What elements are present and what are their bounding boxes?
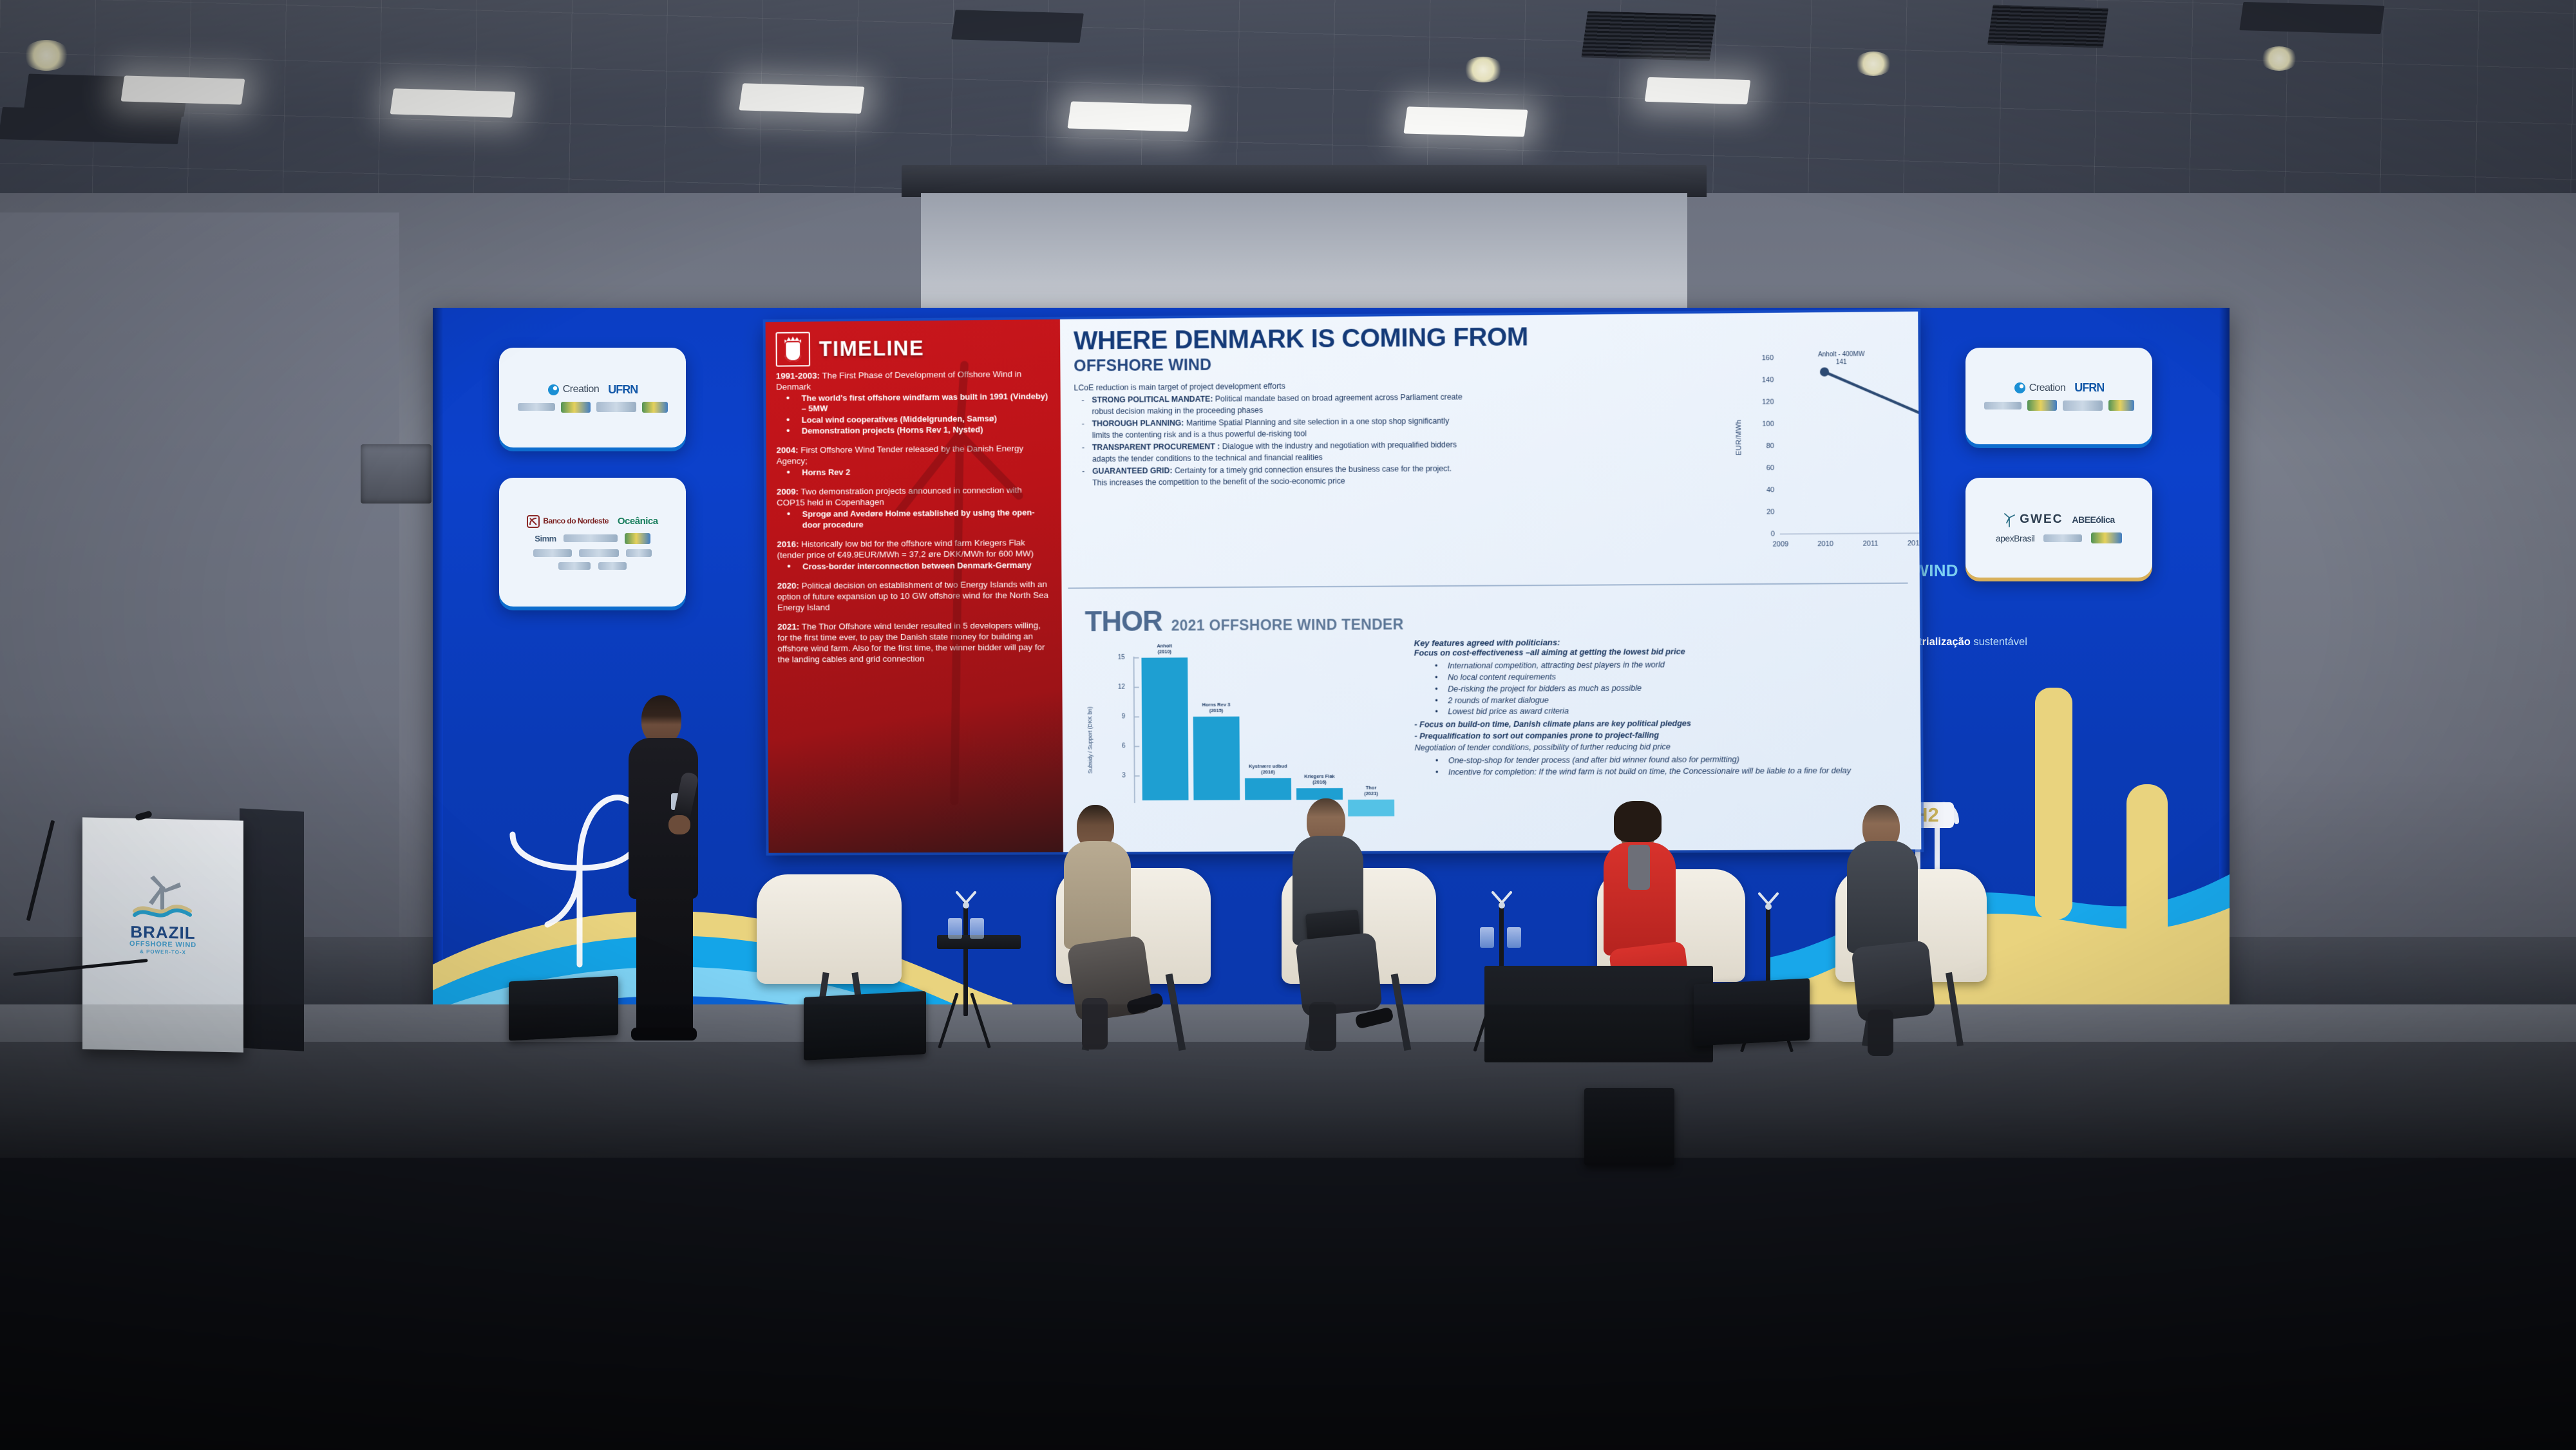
sponsor-logo-governo-federal: [1984, 402, 2022, 410]
sponsor-logo-creation: Creation: [563, 384, 599, 395]
line-chart-plot: [1779, 355, 1921, 546]
bar-anholt: [1141, 657, 1188, 800]
water-glass: [970, 918, 984, 939]
thor-features-sub: Focus on cost-effectiveness –all aiming …: [1414, 645, 1908, 659]
year: 1991-2003:: [776, 371, 820, 381]
ceiling-dark-tile: [951, 10, 1084, 43]
ceiling-spotlight: [2260, 46, 2298, 71]
sponsor-logo-creation: Creation: [2029, 382, 2065, 394]
ceiling-light-panel: [390, 88, 516, 117]
sponsor-logo-oceanica: Oceânica: [618, 516, 658, 527]
sponsor-logo-idema: [626, 549, 652, 557]
line-chart-y-tick: 160: [1750, 354, 1774, 362]
bar-chart-y-tick: 3: [1109, 772, 1126, 779]
podium-logo: BRAZIL OFFSHORE WIND & POWER-TO-X: [129, 874, 196, 956]
bar-sublabel: (2016): [1261, 769, 1275, 775]
bullet-label: STRONG POLITICAL MANDATE:: [1092, 395, 1213, 405]
line-chart-y-tick: 100: [1750, 420, 1774, 428]
annotation-value: 141: [1795, 359, 1887, 367]
timeline-bullet: Sprogø and Avedøre Holme established by …: [777, 507, 1052, 530]
gwec-turbine-icon: [2003, 512, 2016, 527]
sponsor-plaque-right-bottom: GWEC ABEEólica apexBrasil: [1965, 478, 2152, 578]
timeline-bullet: The world's first offshore windfarm was …: [776, 391, 1052, 415]
bar-chart-y-tick: 12: [1108, 684, 1125, 691]
mic-stand-mic-icon: [1753, 891, 1784, 913]
bar-kystnaere-udbud: [1245, 778, 1291, 800]
bar-label-kriegers-flak: Kriegers Flak (2016): [1289, 774, 1350, 786]
bar-sublabel: (2016): [1312, 779, 1327, 785]
line-chart-y-tick: 0: [1751, 530, 1774, 538]
timeline-panel: TIMELINE 1991-2003: The First Phase of D…: [766, 319, 1063, 853]
sponsor-logo-banco-do-nordeste: Banco do Nordeste: [543, 517, 609, 525]
sponsor-logo-neoenergia: [598, 562, 627, 570]
thor-subtitle: 2021 OFFSHORE WIND TENDER: [1171, 616, 1404, 634]
backdrop-right-edge: [2219, 308, 2230, 1048]
line-chart-y-axis-label: EUR/MWh: [1735, 420, 1743, 456]
plaque-secondary-logos: [1972, 400, 2146, 411]
sponsor-logo-rio-grande-do-norte: [596, 402, 636, 412]
sponsor-logo-rio-grande-do-norte: [2063, 400, 2103, 411]
banco-do-nordeste-logo-icon: [527, 515, 540, 528]
timeline-entry-bullets: Cross-border interconnection between Den…: [777, 560, 1053, 572]
panelist-inner-top: [1628, 845, 1650, 890]
ceiling-dark-tile: [2239, 2, 2384, 34]
bar-chart-axis: [1128, 652, 1139, 806]
sponsor-logo-rn-mais: [642, 402, 668, 413]
plaque-primary-logos: GWEC ABEEólica: [1972, 512, 2146, 527]
sponsor-plaque-left-bottom: Banco do Nordeste Oceânica Simm: [499, 478, 686, 607]
line-chart-y-tick: 80: [1751, 442, 1774, 450]
podium-logo-line1: BRAZIL: [129, 923, 196, 941]
timeline-bullet: Horns Rev 2: [777, 466, 1052, 478]
creation-logo-icon: [2014, 382, 2026, 394]
sponsor-logo-governo-federal: [2043, 534, 2082, 542]
bar-chart-y-tick: 9: [1108, 713, 1125, 720]
ceiling-spotlight: [1463, 57, 1503, 82]
bar-chart-y-tick: 15: [1108, 654, 1125, 661]
armchair[interactable]: [757, 874, 902, 984]
line-chart-x-tick: 2012: [1900, 540, 1921, 547]
bar-sublabel: (2021): [1364, 790, 1378, 796]
sponsor-logo-ufrn: UFRN: [608, 383, 638, 397]
sponsor-logo-brasil: [561, 402, 591, 413]
sponsor-logo-partner-a: [533, 549, 572, 557]
slide-bullet: TRANSPARENT PROCUREMENT : Dialogue with …: [1082, 440, 1468, 466]
timeline-title: TIMELINE: [819, 336, 925, 361]
water-glass: [1507, 927, 1521, 948]
line-chart-y-tick: 60: [1751, 464, 1774, 472]
bullet-label: THOROUGH PLANNING:: [1092, 419, 1184, 428]
bullet-label: TRANSPARENT PROCUREMENT :: [1092, 442, 1220, 452]
year: 2016:: [777, 539, 799, 549]
timeline-entry-bullets: Horns Rev 2: [777, 466, 1052, 478]
bar-label-kystnaere: Kystnære udbud (2016): [1237, 764, 1299, 775]
thor-negotiation-line: Negotiation of tender conditions, possib…: [1415, 740, 1908, 754]
bar-label-thor: Thor (2021): [1340, 786, 1402, 797]
line-chart-y-tick: 120: [1750, 398, 1774, 406]
plaque-secondary-logos: apexBrasil: [1972, 532, 2146, 543]
sponsor-plaque-left-top: Creation UFRN: [499, 348, 686, 447]
plaque-primary-logos: Banco do Nordeste Oceânica: [506, 515, 679, 528]
panelist-jacket: [1847, 841, 1918, 953]
danish-royal-crest-icon: [775, 332, 810, 366]
ceiling-spotlight: [23, 40, 70, 71]
slide-section-divider: [1068, 583, 1908, 589]
bar-horns-rev-3: [1193, 717, 1240, 800]
line-chart-x-tick: 2009: [1766, 540, 1796, 548]
sponsor-logo-brasil: [2027, 400, 2057, 411]
slide-title: WHERE DENMARK IS COMING FROM: [1074, 321, 1918, 354]
line-chart-y-tick: 40: [1751, 486, 1774, 494]
sponsor-logo-partner-b: [579, 549, 619, 557]
line-chart-point-annotation: Anholt - 400MW 141: [1795, 351, 1887, 368]
ceiling-light-panel: [1645, 77, 1751, 104]
sponsor-logo-apexbrasil: apexBrasil: [1996, 533, 2034, 543]
slide-bullet-list: STRONG POLITICAL MANDATE: Political mand…: [1081, 391, 1468, 489]
timeline-bullet: Cross-border interconnection between Den…: [777, 560, 1053, 572]
timeline-entry-bullets: Sprogø and Avedøre Holme established by …: [777, 507, 1052, 530]
thor-section-header: THOR 2021 OFFSHORE WIND TENDER: [1084, 604, 1403, 638]
tagline-part3: sustentável: [1971, 636, 2027, 648]
sponsor-logo-rn-mais: [2108, 400, 2134, 411]
wall-speaker: [361, 444, 431, 504]
line-chart-x-tick: 2011: [1855, 540, 1886, 547]
slide-bullet: THOROUGH PLANNING: Maritime Spatial Plan…: [1082, 416, 1468, 442]
line-chart-x-tick: 2010: [1810, 540, 1841, 548]
sponsor-logo-energisa: [625, 533, 650, 544]
audience-section: [0, 979, 2576, 1450]
plaque-secondary-logos-row3: [506, 562, 679, 570]
lcoe-line-chart: EUR/MWh 160 140 120 100 80 60 40 20 0: [1736, 355, 1922, 572]
plaque-secondary-logos-row1: Simm: [506, 533, 679, 544]
creation-logo-icon: [547, 384, 560, 396]
timeline-bullet: Demonstration projects (Horns Rev 1, Nys…: [776, 424, 1052, 437]
year: 2004:: [777, 446, 799, 455]
bullet-label: GUARANTEED GRID:: [1092, 466, 1172, 476]
plaque-primary-logos: Creation UFRN: [506, 383, 679, 397]
ceiling-light-panel: [1403, 106, 1528, 137]
bar-sublabel: (2010): [1157, 648, 1171, 654]
water-glass: [948, 918, 962, 939]
water-glass: [1480, 927, 1494, 948]
thor-bullet: Lowest bid price as award criteria: [1434, 704, 1908, 718]
sponsor-logo-abeeolica: ABEEólica: [2072, 514, 2114, 525]
panelist-jacket: [1064, 841, 1131, 949]
slide-bullet: STRONG POLITICAL MANDATE: Political mand…: [1081, 391, 1467, 417]
bar-chart-y-tick: 6: [1109, 742, 1126, 749]
sponsor-logo-gwec: GWEC: [2020, 513, 2063, 527]
year: 2020:: [777, 581, 799, 590]
conference-stage-photo: H2 BRAZIL OFFSHORE WI: [0, 0, 2576, 1450]
backdrop-left-edge: [433, 308, 443, 1048]
projection-screen-housing: [902, 165, 1707, 197]
thor-title: THOR: [1084, 606, 1162, 639]
sponsor-logo-ufrn: UFRN: [2074, 381, 2104, 395]
plaque-primary-logos: Creation UFRN: [1972, 381, 2146, 395]
shield-shape: [784, 341, 801, 361]
podium-turbine-wave-icon: [131, 874, 195, 921]
ceiling-light-panel: [1067, 101, 1191, 131]
ceiling-light-panel: [739, 83, 864, 113]
timeline-bullet: Local wind cooperatives (Middelgrunden, …: [776, 413, 1052, 426]
ceiling-air-vent: [1581, 11, 1716, 61]
sponsor-logo-governo-federal: [518, 403, 555, 411]
ceiling-dark-tile: [0, 107, 182, 144]
plaque-secondary-logos: [506, 402, 679, 413]
ceiling-spotlight: [1855, 52, 1892, 76]
sponsor-logo-brasil: [2091, 532, 2122, 543]
ceiling-air-vent: [1987, 5, 2108, 48]
thor-bullet-list-2: One-stop-shop for tender process (and af…: [1434, 753, 1908, 778]
slide-bullet: GUARANTEED GRID: Certainty for a timely …: [1082, 464, 1468, 489]
line-chart-y-tick: 140: [1750, 376, 1774, 384]
thor-bullet: Incentive for completion: If the wind fa…: [1434, 765, 1908, 778]
plaque-secondary-logos-row2: [506, 549, 679, 557]
thor-bullet-list: International competition, attracting be…: [1434, 658, 1908, 718]
line-chart-y-tick: 20: [1751, 508, 1774, 516]
presenter-hand: [668, 815, 690, 834]
sponsor-logo-petrobras: [558, 562, 591, 570]
bar-sublabel: (2015): [1209, 707, 1224, 713]
bar-chart-y-axis-label: Subsidy / Support (DKK bn): [1086, 677, 1094, 774]
slide-main-column: WHERE DENMARK IS COMING FROM OFFSHORE WI…: [1056, 312, 1921, 852]
year: 2009:: [777, 487, 799, 496]
mic-stand-mic-icon: [1486, 890, 1517, 912]
presentation-slide: TIMELINE 1991-2003: The First Phase of D…: [766, 312, 1922, 853]
panelist-hair: [1614, 801, 1662, 842]
sponsor-plaque-right-top: Creation UFRN: [1965, 348, 2152, 444]
presenter-head: [641, 695, 681, 744]
thor-features-block: Key features agreed with politicians: Fo…: [1414, 636, 1908, 780]
sponsor-logo-simm: Simm: [535, 534, 556, 543]
bar-label-horns-rev-3: Horns Rev 3 (2015): [1186, 702, 1247, 714]
projection-screen: [921, 193, 1687, 322]
bar-label-anholt: Anholt (2010): [1133, 643, 1195, 655]
ceiling-light-panel: [121, 75, 245, 104]
year: 2021:: [777, 622, 799, 632]
mic-stand-mic-icon: [951, 890, 981, 912]
sponsor-logo-ministerio-minas-energia: [563, 534, 618, 542]
timeline-entry-bullets: The world's first offshore windfarm was …: [776, 391, 1052, 437]
